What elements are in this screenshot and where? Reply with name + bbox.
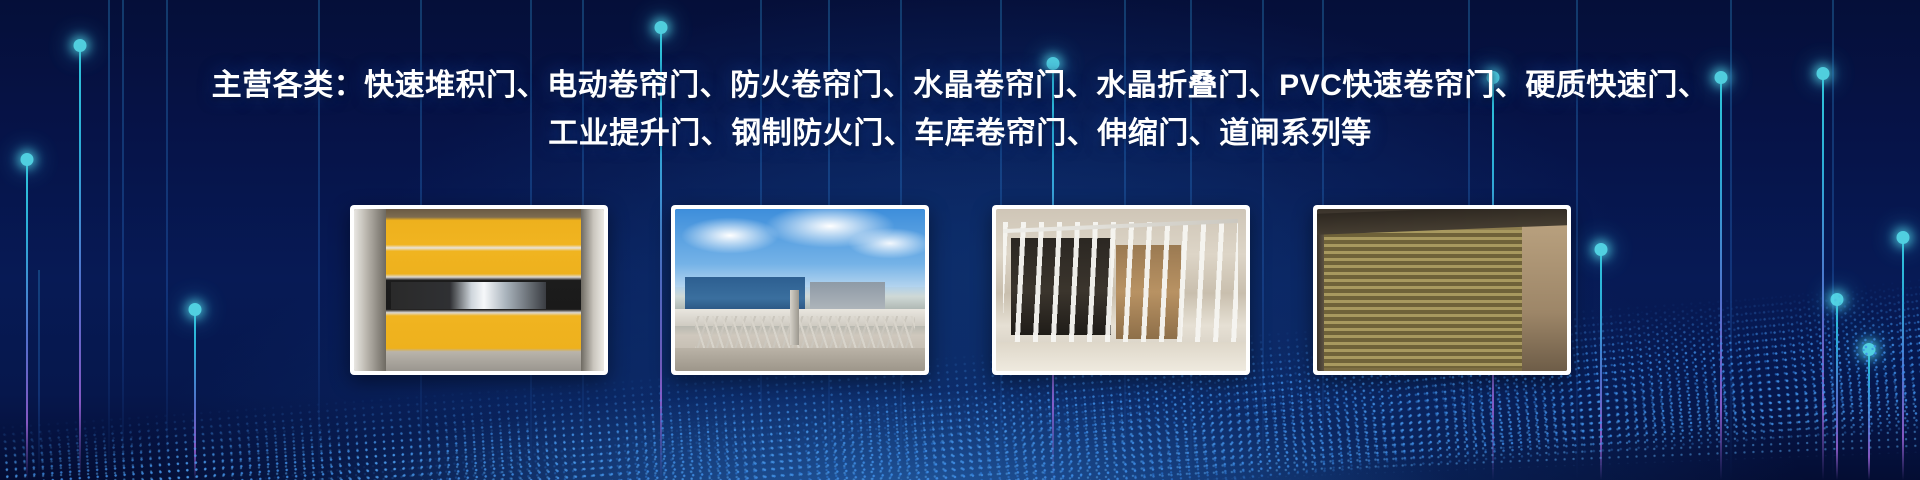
headline-line-2: 工业提升门、钢制防火门、车库卷帘门、伸缩门、道闸系列等 xyxy=(0,110,1920,158)
product-photo-card[interactable] xyxy=(992,205,1250,375)
photo-garage-roller-shutter xyxy=(1317,209,1567,371)
photo-retractable-gate xyxy=(675,209,925,371)
photo-detail xyxy=(391,282,546,310)
photo-detail xyxy=(1522,225,1567,371)
headline-line-1: 主营各类：快速堆积门、电动卷帘门、防火卷帘门、水晶卷帘门、水晶折叠门、PVC快速… xyxy=(0,62,1920,110)
photo-detail xyxy=(675,348,925,371)
photo-detail xyxy=(1003,222,1238,358)
photo-fast-stacking-door xyxy=(354,209,604,371)
photo-folding-door xyxy=(996,209,1246,371)
banner-headline: 主营各类：快速堆积门、电动卷帘门、防火卷帘门、水晶卷帘门、水晶折叠门、PVC快速… xyxy=(0,62,1920,158)
product-photo-card[interactable] xyxy=(671,205,929,375)
photo-detail xyxy=(810,282,885,313)
photo-detail xyxy=(685,277,805,313)
photo-detail xyxy=(996,342,1246,371)
photo-detail xyxy=(1322,230,1522,368)
photo-detail xyxy=(1317,228,1325,371)
photo-detail xyxy=(790,290,799,345)
product-gallery xyxy=(0,205,1920,380)
product-photo-card[interactable] xyxy=(1313,205,1571,375)
photo-detail xyxy=(675,209,925,287)
photo-detail xyxy=(695,316,915,352)
promo-banner: 主营各类：快速堆积门、电动卷帘门、防火卷帘门、水晶卷帘门、水晶折叠门、PVC快速… xyxy=(0,0,1920,480)
product-photo-card[interactable] xyxy=(350,205,608,375)
